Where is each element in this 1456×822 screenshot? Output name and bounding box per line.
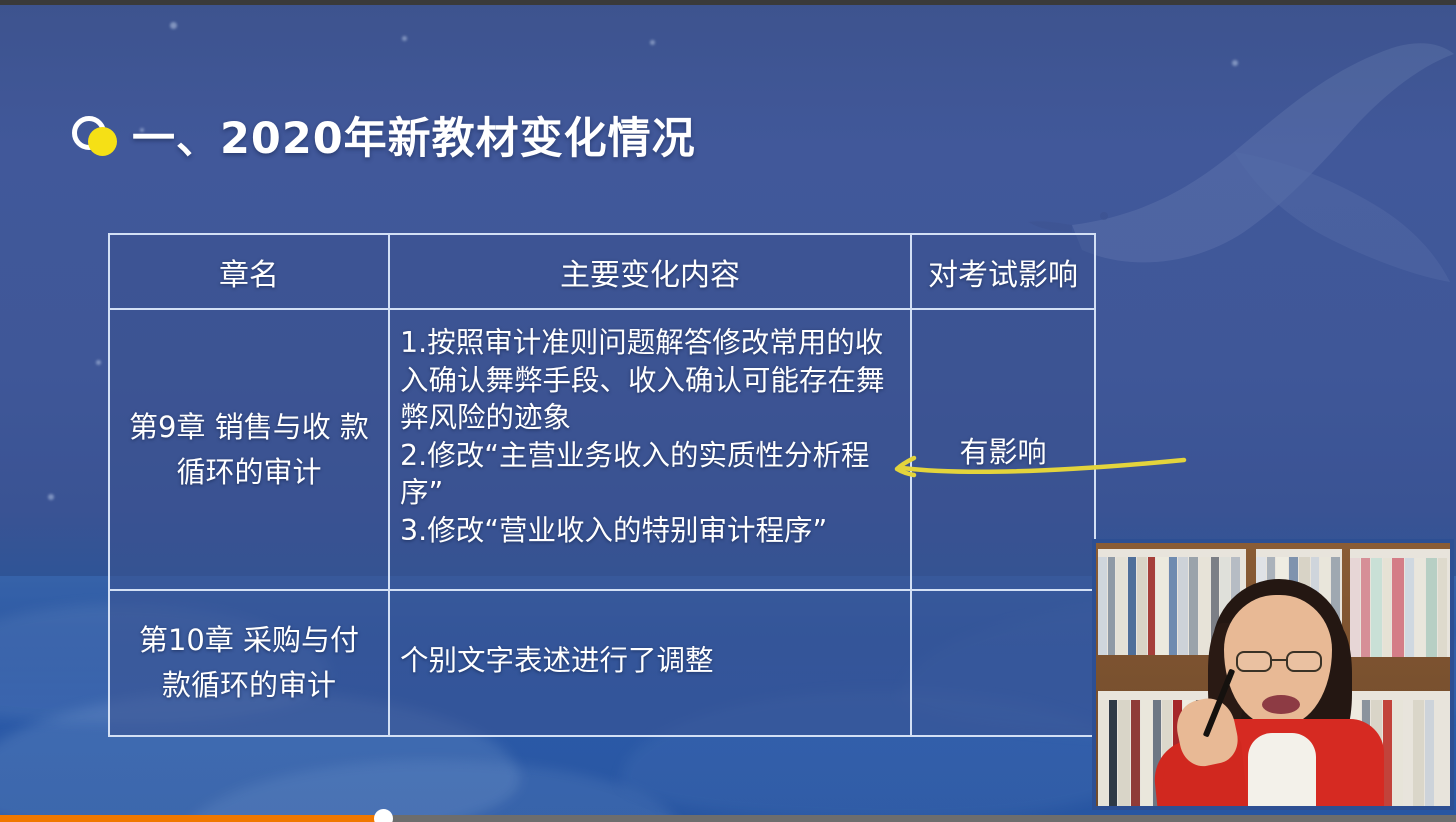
background-speck (402, 36, 407, 41)
presenter-blouse (1248, 733, 1316, 806)
cell-chapter-name: 第9章 销售与收 款循环的审计 (109, 309, 389, 590)
table-row: 第9章 销售与收 款循环的审计 1.按照审计准则问题解答修改常用的收入确认舞弊手… (109, 309, 1095, 590)
shelf-section (1350, 549, 1450, 657)
presentation-slide: 一、2020年新教材变化情况 章名 主要变化内容 对考试影响 第9章 销售与收 … (0, 0, 1456, 822)
cell-change-content: 1.按照审计准则问题解答修改常用的收入确认舞弊手段、收入确认可能存在舞弊风险的迹… (389, 309, 911, 590)
progress-fill (0, 815, 376, 822)
presenter-video-overlay[interactable] (1092, 539, 1454, 810)
column-header-exam-impact: 对考试影响 (911, 234, 1095, 309)
background-speck (170, 22, 177, 29)
column-header-chapter: 章名 (109, 234, 389, 309)
presenter-mouth (1262, 695, 1300, 714)
table-header-row: 章名 主要变化内容 对考试影响 (109, 234, 1095, 309)
progress-handle[interactable] (374, 809, 393, 822)
cell-chapter-name: 第10章 采购与付 款循环的审计 (109, 590, 389, 736)
background-speck (650, 40, 655, 45)
cell-change-content: 个别文字表述进行了调整 (389, 590, 911, 736)
presenter-video-frame (1096, 543, 1450, 806)
background-speck (48, 494, 54, 500)
cell-exam-impact (911, 590, 1095, 736)
video-progress-bar[interactable] (0, 815, 1456, 822)
changes-table: 章名 主要变化内容 对考试影响 第9章 销售与收 款循环的审计 1.按照审计准则… (108, 233, 1096, 737)
glasses-icon (1236, 651, 1324, 673)
circle-ring-dot-icon (70, 112, 126, 158)
background-speck (1232, 60, 1238, 66)
table-row: 第10章 采购与付 款循环的审计 个别文字表述进行了调整 (109, 590, 1095, 736)
background-speck (96, 360, 101, 365)
column-header-content: 主要变化内容 (389, 234, 911, 309)
page-title: 一、2020年新教材变化情况 (132, 104, 696, 166)
cell-exam-impact: 有影响 (911, 309, 1095, 590)
slide-title-row: 一、2020年新教材变化情况 (70, 104, 696, 166)
letterbox-bar (0, 0, 1456, 5)
